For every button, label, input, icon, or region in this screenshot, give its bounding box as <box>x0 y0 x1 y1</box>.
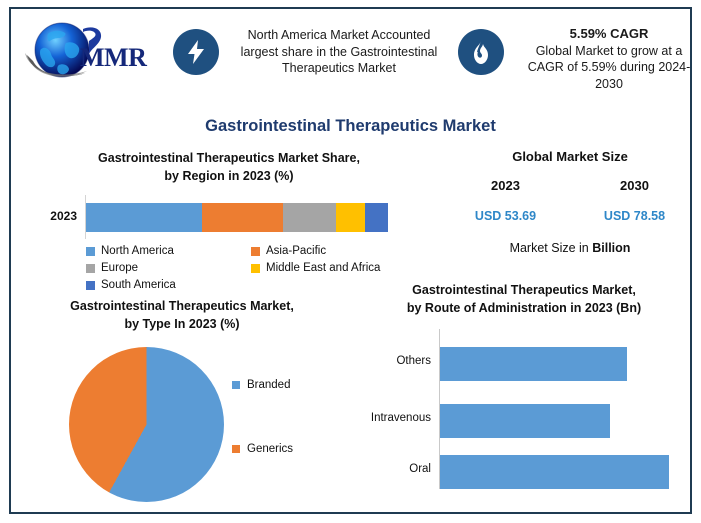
legend-swatch-icon <box>232 381 240 389</box>
route-plot: OthersIntravenousOral <box>349 329 699 489</box>
route-label-intravenous: Intravenous <box>349 412 431 424</box>
route-label-others: Others <box>349 355 431 367</box>
infographic-frame: MMR North America Market Accounted large… <box>9 7 692 514</box>
route-bar-intravenous[interactable] <box>440 404 610 438</box>
pie-legend-item-branded[interactable]: Branded <box>232 379 293 391</box>
legend-swatch-icon <box>232 445 240 453</box>
type-share-chart: Gastrointestinal Therapeutics Market, by… <box>27 297 337 516</box>
cagr-value: 5.59% CAGR <box>516 26 701 43</box>
global-market-size-title: Global Market Size <box>441 149 699 164</box>
global-market-size-years: 2023 2030 <box>441 178 699 193</box>
route-row: Intravenous <box>349 404 699 438</box>
legend-item-middle-east-and-africa[interactable]: Middle East and Africa <box>251 260 416 277</box>
region-segment-north-america[interactable] <box>86 203 202 232</box>
region-share-chart: Gastrointestinal Therapeutics Market Sha… <box>29 149 429 294</box>
region-share-plot: 2023 <box>29 195 429 239</box>
legend-item-north-america[interactable]: North America <box>86 243 251 260</box>
global-market-size-unit: Market Size in Billion <box>441 241 699 255</box>
gms-value-right: USD 78.58 <box>570 209 699 223</box>
mmr-logo[interactable]: MMR <box>25 17 165 89</box>
highlight-north-america-text: North America Market Accounted largest s… <box>231 27 447 77</box>
region-share-title-line2: by Region in 2023 (%) <box>29 167 429 185</box>
type-share-plot: BrandedGenerics <box>27 341 337 516</box>
legend-item-south-america[interactable]: South America <box>86 277 251 294</box>
legend-item-asia-pacific[interactable]: Asia-Pacific <box>251 243 416 260</box>
route-label-oral: Oral <box>349 463 431 475</box>
global-market-size-values: USD 53.69 USD 78.58 <box>441 209 699 223</box>
route-row: Oral <box>349 455 699 489</box>
gms-value-left: USD 53.69 <box>441 209 570 223</box>
type-share-title-line2: by Type In 2023 (%) <box>27 315 337 333</box>
region-stacked-bar[interactable] <box>86 203 388 232</box>
pie-legend-label: Branded <box>247 379 290 391</box>
cagr-description: Global Market to grow at a CAGR of 5.59%… <box>528 44 691 91</box>
route-bar-oral[interactable] <box>440 455 669 489</box>
region-segment-middle-east-and-africa[interactable] <box>336 203 365 232</box>
route-title: Gastrointestinal Therapeutics Market, by… <box>349 281 699 317</box>
gms-unit-prefix: Market Size in <box>510 241 593 255</box>
highlight-cagr-text: 5.59% CAGR Global Market to grow at a CA… <box>516 26 701 92</box>
route-bar-others[interactable] <box>440 347 627 381</box>
legend-swatch-icon <box>86 247 95 256</box>
global-market-size-panel: Global Market Size 2023 2030 USD 53.69 U… <box>441 149 699 255</box>
legend-swatch-icon <box>86 264 95 273</box>
region-share-title: Gastrointestinal Therapeutics Market Sha… <box>29 149 429 185</box>
legend-swatch-icon <box>86 281 95 290</box>
region-share-title-line1: Gastrointestinal Therapeutics Market Sha… <box>29 149 429 167</box>
gms-year-left: 2023 <box>441 178 570 193</box>
pie-chart[interactable] <box>69 347 224 502</box>
legend-label: Europe <box>101 260 138 277</box>
route-title-line2: by Route of Administration in 2023 (Bn) <box>349 299 699 317</box>
type-share-title-line1: Gastrointestinal Therapeutics Market, <box>27 297 337 315</box>
region-segment-europe[interactable] <box>283 203 335 232</box>
legend-label: Middle East and Africa <box>266 260 380 277</box>
region-segment-south-america[interactable] <box>365 203 388 232</box>
region-segment-asia-pacific[interactable] <box>202 203 283 232</box>
route-of-administration-chart: Gastrointestinal Therapeutics Market, by… <box>349 281 699 489</box>
bolt-icon <box>173 29 219 75</box>
legend-label: South America <box>101 277 176 294</box>
infographic-canvas: MMR North America Market Accounted large… <box>0 0 701 523</box>
legend-swatch-icon <box>251 247 260 256</box>
type-share-legend: BrandedGenerics <box>232 379 293 455</box>
type-share-title: Gastrointestinal Therapeutics Market, by… <box>27 297 337 333</box>
pie-legend-label: Generics <box>247 443 293 455</box>
legend-label: Asia-Pacific <box>266 243 326 260</box>
legend-item-europe[interactable]: Europe <box>86 260 251 277</box>
region-axis-label-2023: 2023 <box>29 209 77 223</box>
gms-unit-bold: Billion <box>592 241 630 255</box>
legend-swatch-icon <box>251 264 260 273</box>
gms-year-right: 2030 <box>570 178 699 193</box>
route-title-line1: Gastrointestinal Therapeutics Market, <box>349 281 699 299</box>
route-row: Others <box>349 347 699 381</box>
pie-legend-item-generics[interactable]: Generics <box>232 443 293 455</box>
logo-wordmark: MMR <box>80 43 146 73</box>
flame-icon <box>458 29 504 75</box>
legend-label: North America <box>101 243 174 260</box>
page-title: Gastrointestinal Therapeutics Market <box>11 117 690 136</box>
